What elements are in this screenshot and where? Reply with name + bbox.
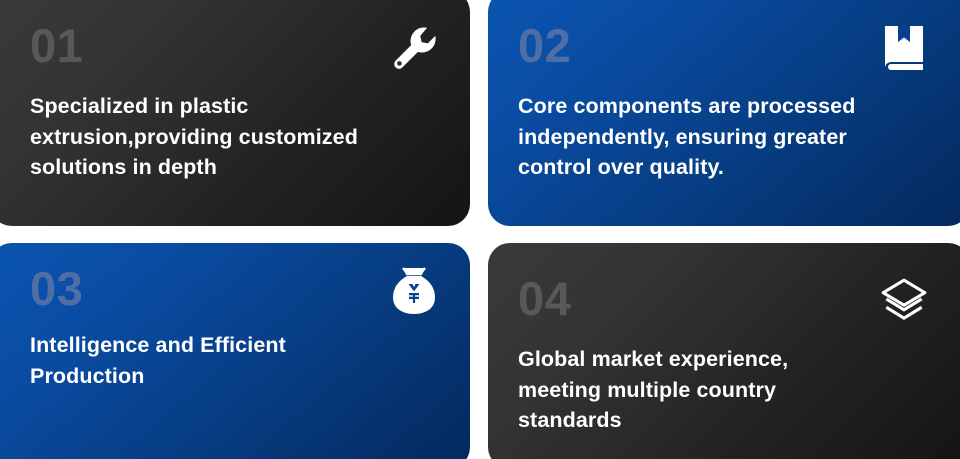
card-inner: 03 Intelligence and Efficient Production [0, 243, 470, 459]
money-bag-yen-icon [388, 265, 440, 317]
card-text-04: Global market experience, meeting multip… [518, 344, 934, 436]
feature-card-02[interactable]: 02 Core components are processed indepen… [488, 0, 960, 226]
card-text-03: Intelligence and Efficient Production [30, 330, 444, 391]
card-number-01: 01 [30, 22, 444, 69]
card-body: 01 Specialized in plastic extrusion,prov… [0, 0, 470, 226]
card-number-03: 03 [30, 265, 444, 312]
card-number-04: 04 [518, 275, 934, 322]
card-body: 03 Intelligence and Efficient Production [0, 243, 470, 459]
layers-icon [878, 275, 930, 327]
card-inner: 01 Specialized in plastic extrusion,prov… [0, 0, 470, 226]
book-bookmark-icon [878, 22, 930, 74]
card-text-02: Core components are processed independen… [518, 91, 934, 183]
feature-card-grid: 01 Specialized in plastic extrusion,prov… [0, 0, 960, 459]
card-body: 02 Core components are processed indepen… [488, 0, 960, 226]
card-inner: 04 Global market experience, meeting mul… [488, 243, 960, 459]
feature-card-03[interactable]: 03 Intelligence and Efficient Production [0, 243, 470, 459]
feature-card-04[interactable]: 04 Global market experience, meeting mul… [488, 243, 960, 459]
card-number-02: 02 [518, 22, 934, 69]
feature-card-01[interactable]: 01 Specialized in plastic extrusion,prov… [0, 0, 470, 226]
card-body: 04 Global market experience, meeting mul… [488, 253, 960, 459]
wrench-icon [388, 22, 440, 74]
card-text-01: Specialized in plastic extrusion,providi… [30, 91, 444, 183]
card-inner: 02 Core components are processed indepen… [488, 0, 960, 226]
